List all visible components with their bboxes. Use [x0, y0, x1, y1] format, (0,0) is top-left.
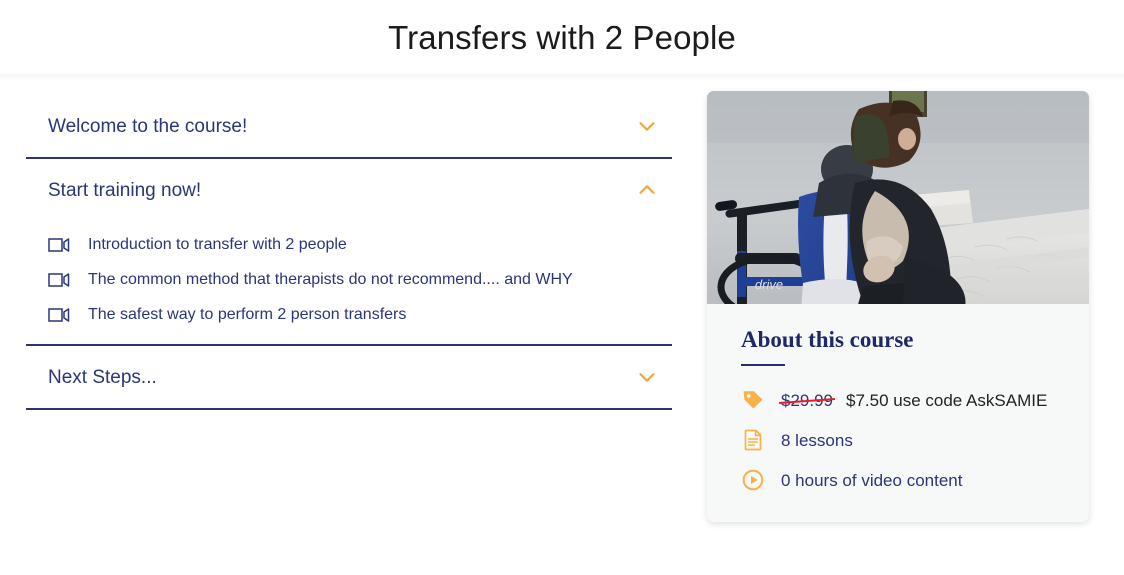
- list-item[interactable]: Introduction to transfer with 2 people: [26, 227, 672, 262]
- price-row: $29.99 $7.50 use code AskSAMIE: [741, 388, 1055, 412]
- course-page: Transfers with 2 People Welcome to the c…: [0, 0, 1124, 575]
- video-duration-row: 0 hours of video content: [741, 468, 1055, 492]
- card-body: About this course $29.99 $7.50 use code …: [707, 304, 1089, 522]
- accordion-section-welcome: Welcome to the course!: [26, 95, 672, 159]
- accordion-section-start-training: Start training now!: [26, 159, 672, 346]
- accordion-title: Start training now!: [48, 181, 201, 200]
- chevron-down-icon[interactable]: [636, 115, 658, 137]
- document-icon: [741, 428, 765, 452]
- accordion-header-welcome[interactable]: Welcome to the course!: [26, 95, 672, 157]
- list-item[interactable]: The common method that therapists do not…: [26, 262, 672, 297]
- lesson-count-label: 8 lessons: [781, 432, 853, 449]
- page-content: Welcome to the course! Start training no…: [0, 81, 1124, 575]
- page-header: Transfers with 2 People: [0, 0, 1124, 75]
- lesson-label: Introduction to transfer with 2 people: [88, 237, 347, 253]
- lesson-count-row: 8 lessons: [741, 428, 1055, 452]
- about-course-heading: About this course: [741, 328, 1055, 351]
- accordion-title: Welcome to the course!: [48, 117, 247, 136]
- accordion-section-next-steps: Next Steps...: [26, 346, 672, 410]
- curriculum-accordion: Welcome to the course! Start training no…: [26, 95, 672, 410]
- video-icon: [48, 272, 70, 288]
- course-info-card: drive: [707, 91, 1089, 522]
- discounted-price: $7.50 use code AskSAMIE: [846, 392, 1047, 409]
- page-title: Transfers with 2 People: [388, 21, 736, 54]
- accordion-header-next-steps[interactable]: Next Steps...: [26, 346, 672, 408]
- play-circle-icon: [741, 468, 765, 492]
- lesson-label: The safest way to perform 2 person trans…: [88, 307, 406, 323]
- accordion-header-start-training[interactable]: Start training now!: [26, 159, 672, 221]
- lesson-label: The common method that therapists do not…: [88, 272, 573, 288]
- original-price: $29.99: [781, 392, 833, 409]
- video-duration-label: 0 hours of video content: [781, 472, 962, 489]
- accordion-title: Next Steps...: [48, 368, 157, 387]
- section-divider: [26, 408, 672, 410]
- video-icon: [48, 237, 70, 253]
- heading-underline: [741, 364, 785, 366]
- video-icon: [48, 307, 70, 323]
- lesson-list: Introduction to transfer with 2 people T…: [26, 221, 672, 344]
- chevron-down-icon[interactable]: [636, 366, 658, 388]
- price-tag-icon: [741, 388, 765, 412]
- course-thumbnail-image: drive: [707, 91, 1089, 304]
- list-item[interactable]: The safest way to perform 2 person trans…: [26, 297, 672, 332]
- chevron-up-icon[interactable]: [636, 179, 658, 201]
- header-divider: [0, 74, 1124, 81]
